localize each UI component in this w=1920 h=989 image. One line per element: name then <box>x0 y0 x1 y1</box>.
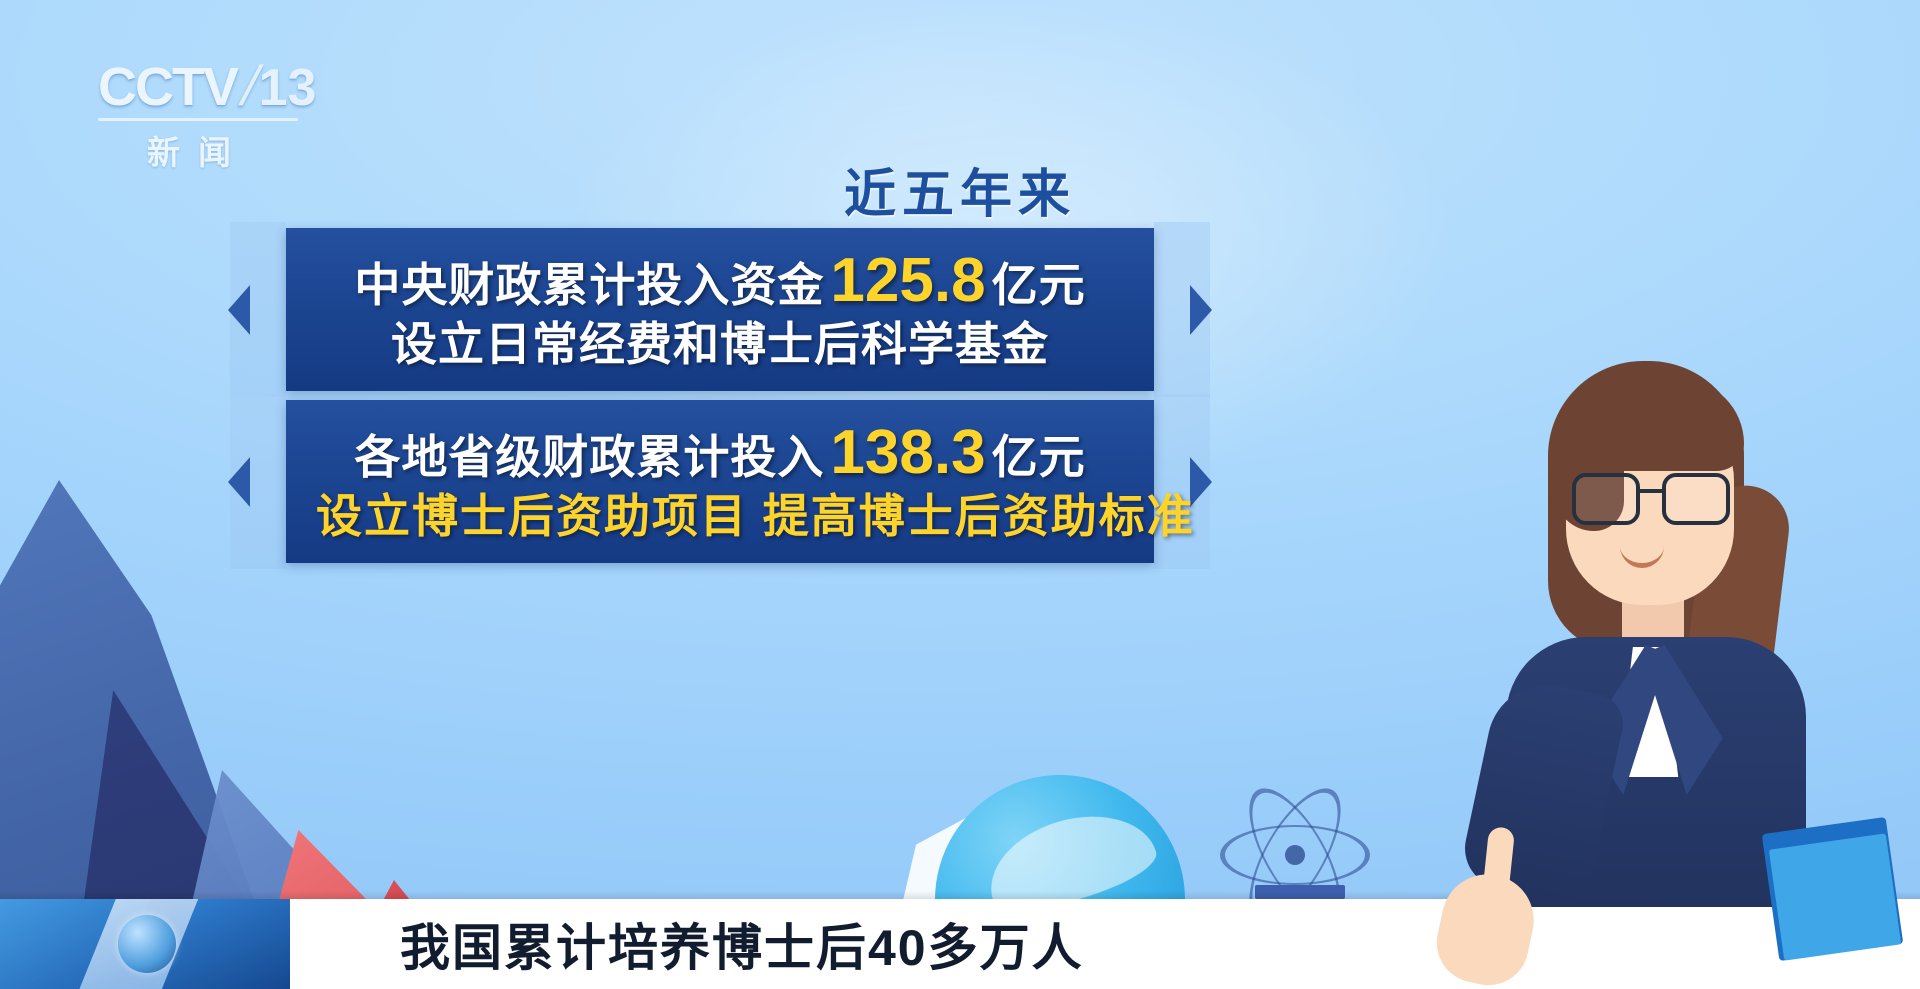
banner2-line1-prefix: 各地省级财政累计投入 <box>354 431 824 483</box>
logo-channel-number: 13 <box>259 62 317 114</box>
broadcast-screen: CCTV / 13 新闻 近五年来 中央财政累计投入资金125.8亿元 设立日常… <box>0 0 1920 989</box>
lower-third-title: 我国累计培养博士后40多万人 <box>290 908 1084 980</box>
banner2-line2: 设立博士后资助项目 提高博士后资助标准 <box>316 490 1195 542</box>
chevron-left-icon-right <box>1190 285 1212 335</box>
headline-text: 近五年来 <box>844 166 1076 224</box>
globe-icon <box>118 915 176 973</box>
banner2-line-2: 设立博士后资助项目 提高博士后资助标准 <box>316 489 1124 543</box>
presenter-illustration <box>1470 355 1920 900</box>
banner1-amount: 125.8 <box>830 246 985 315</box>
banner-line-2: 设立日常经费和博士后科学基金 <box>316 317 1124 371</box>
lower-third-badge <box>0 899 290 989</box>
chevron-right-icon-left-2 <box>228 457 250 507</box>
chevron-right-icon-left <box>228 285 250 335</box>
banner2-line1-suffix: 亿元 <box>992 431 1086 483</box>
banner2-amount: 138.3 <box>830 418 985 487</box>
banner-line-1: 中央财政累计投入资金125.8亿元 <box>316 244 1124 317</box>
headline: 近五年来 <box>0 152 1920 227</box>
banner1-line1-suffix: 亿元 <box>992 259 1086 311</box>
lower-third: 我国累计培养博士后40多万人 <box>0 899 1920 989</box>
logo-main-text: CCTV <box>98 60 237 114</box>
banner2-line-1: 各地省级财政累计投入138.3亿元 <box>316 416 1124 489</box>
banner1-line1-prefix: 中央财政累计投入资金 <box>354 259 824 311</box>
glasses-icon <box>1570 473 1732 517</box>
banner1-line2: 设立日常经费和博士后科学基金 <box>391 318 1049 370</box>
info-banner-provincial-finance: 各地省级财政累计投入138.3亿元 设立博士后资助项目 提高博士后资助标准 <box>286 400 1154 563</box>
logo-underline <box>98 118 298 121</box>
info-banner-central-finance: 中央财政累计投入资金125.8亿元 设立日常经费和博士后科学基金 <box>286 228 1154 391</box>
